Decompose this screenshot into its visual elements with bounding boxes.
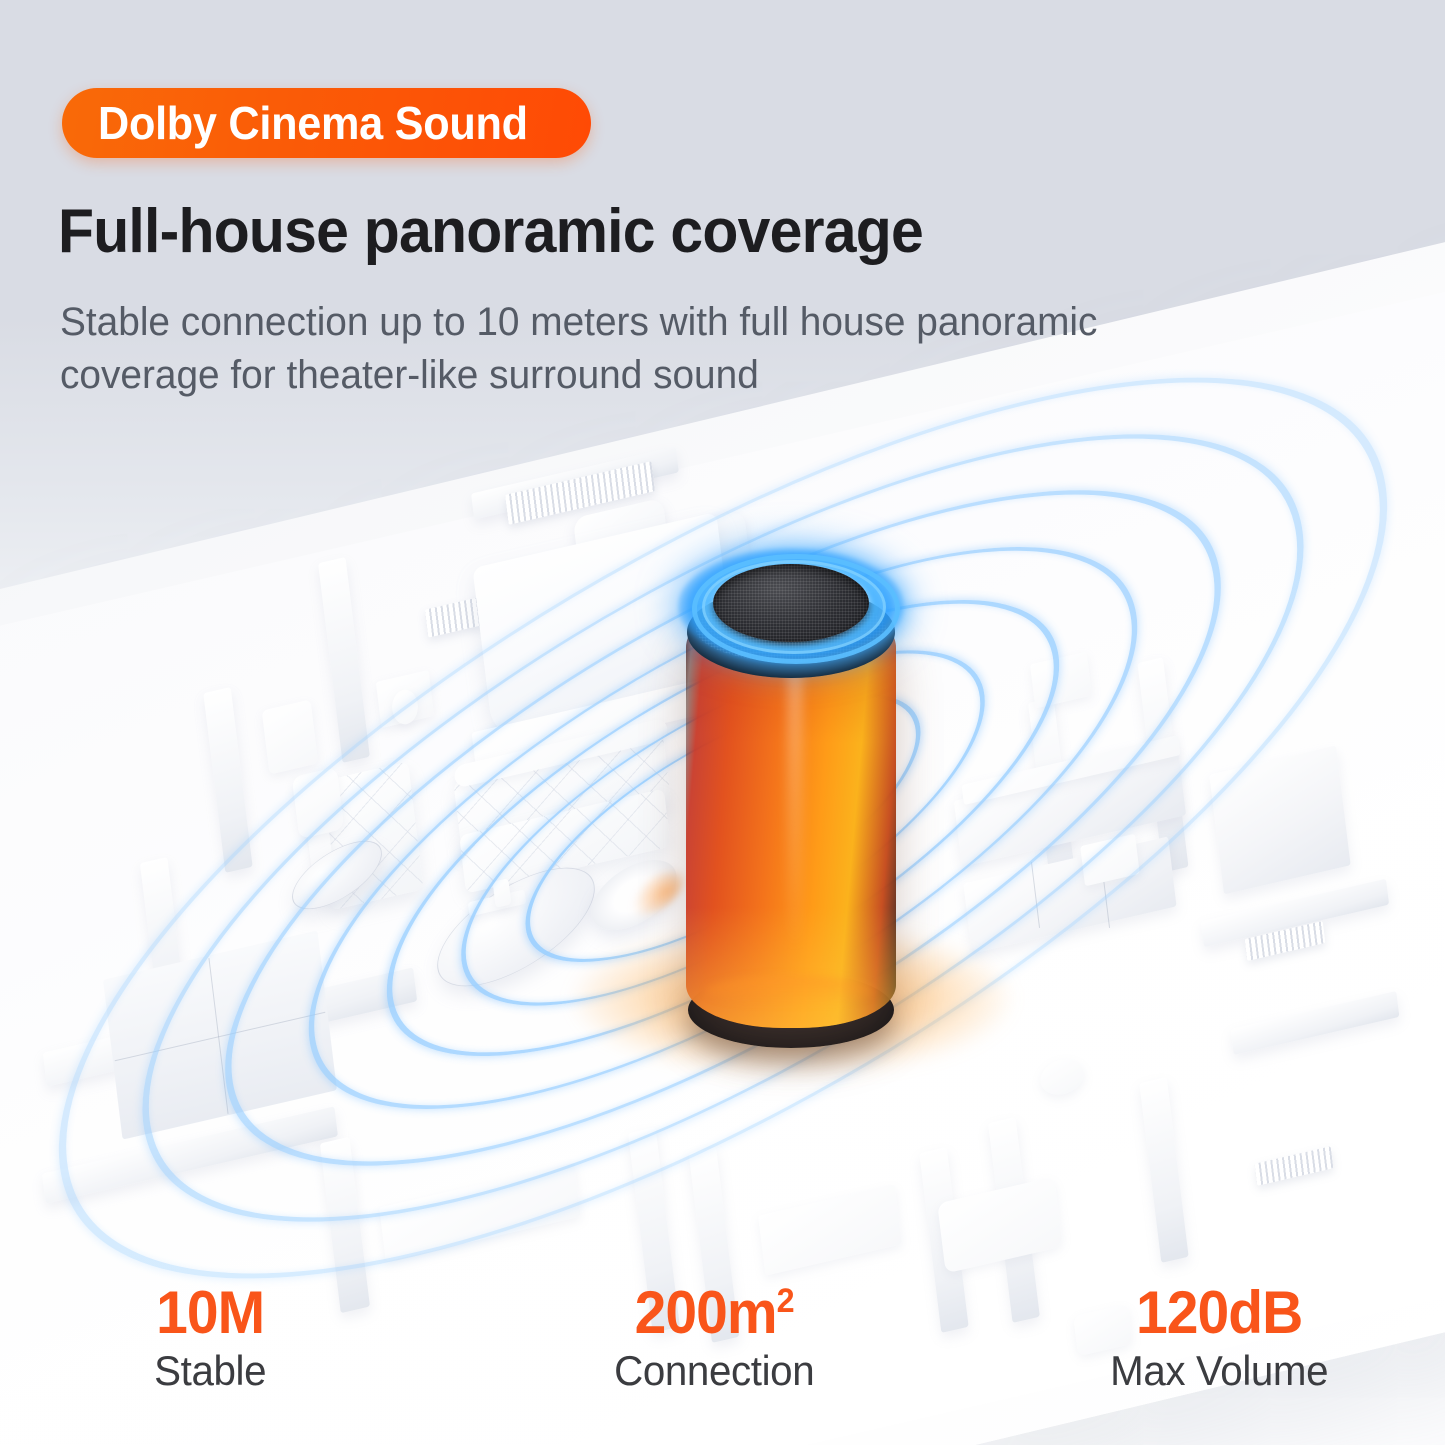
table-vase	[493, 878, 512, 908]
speaker-base-highlight	[706, 976, 874, 1006]
armchair	[292, 767, 344, 839]
page-subtitle: Stable connection up to 10 meters with f…	[60, 296, 1185, 402]
mesh-speaker-grille-icon	[713, 564, 869, 642]
stat-value: 200m2	[475, 1282, 954, 1343]
stat-item: 120dB Max Volume	[967, 1282, 1445, 1395]
spec-stats-row: 10M Stable 200m2 Connection 120dB Max Vo…	[0, 1282, 1445, 1395]
stat-value: 120dB	[979, 1282, 1445, 1343]
floor-rug	[262, 699, 319, 774]
feature-badge: Dolby Cinema Sound	[62, 88, 591, 158]
bluetooth-speaker-product	[686, 552, 896, 1052]
stat-value: 10M	[0, 1282, 450, 1343]
feature-badge-label: Dolby Cinema Sound	[98, 96, 528, 150]
page-title: Full-house panoramic coverage	[58, 196, 923, 267]
stat-label: Stable	[0, 1347, 452, 1395]
stat-label: Max Volume	[977, 1347, 1445, 1395]
stat-superscript: 2	[777, 1282, 794, 1320]
stat-label: Connection	[472, 1347, 956, 1395]
product-feature-banner: Dolby Cinema Sound Full-house panoramic …	[0, 0, 1445, 1445]
stat-item: 10M Stable	[0, 1282, 462, 1395]
stat-item: 200m2 Connection	[462, 1282, 966, 1395]
